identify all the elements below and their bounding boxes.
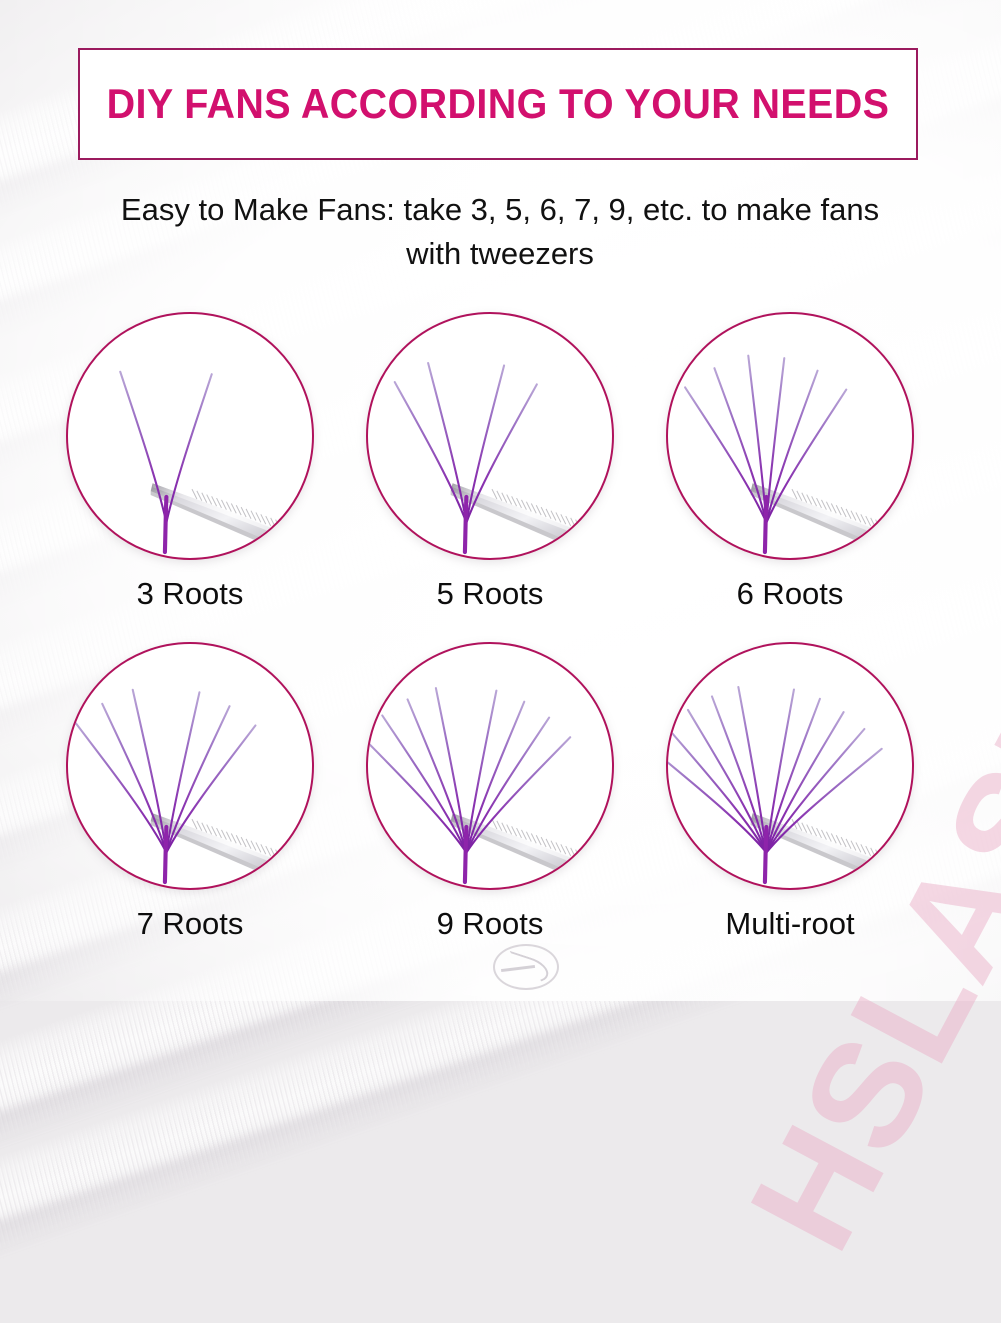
fan-illustration-multi-root bbox=[666, 642, 914, 890]
fan-card-multi-root[interactable]: Multi-root bbox=[660, 642, 920, 942]
fan-card-7-roots[interactable]: 7 Roots bbox=[60, 642, 320, 942]
fan-illustration-7-roots bbox=[66, 642, 314, 890]
fan-card-label: 3 Roots bbox=[60, 576, 320, 612]
page-title: DIY FANS ACCORDING TO YOUR NEEDS bbox=[105, 80, 891, 128]
fan-card-label: 7 Roots bbox=[60, 906, 320, 942]
fan-illustration-9-roots bbox=[366, 642, 614, 890]
fan-card-label: 5 Roots bbox=[360, 576, 620, 612]
fan-illustration-6-roots bbox=[666, 312, 914, 560]
fan-card-3-roots[interactable]: 3 Roots bbox=[60, 312, 320, 612]
fan-card-5-roots[interactable]: 5 Roots bbox=[360, 312, 620, 612]
fan-illustration-5-roots bbox=[366, 312, 614, 560]
subtitle-text: Easy to Make Fans: take 3, 5, 6, 7, 9, e… bbox=[90, 188, 910, 276]
fan-card-6-roots[interactable]: 6 Roots bbox=[660, 312, 920, 612]
fan-card-label: 9 Roots bbox=[360, 906, 620, 942]
title-banner: DIY FANS ACCORDING TO YOUR NEEDS bbox=[78, 48, 918, 160]
fan-card-label: Multi-root bbox=[660, 906, 920, 942]
fan-illustration-3-roots bbox=[66, 312, 314, 560]
fan-card-9-roots[interactable]: 9 Roots bbox=[360, 642, 620, 942]
fan-card-label: 6 Roots bbox=[660, 576, 920, 612]
